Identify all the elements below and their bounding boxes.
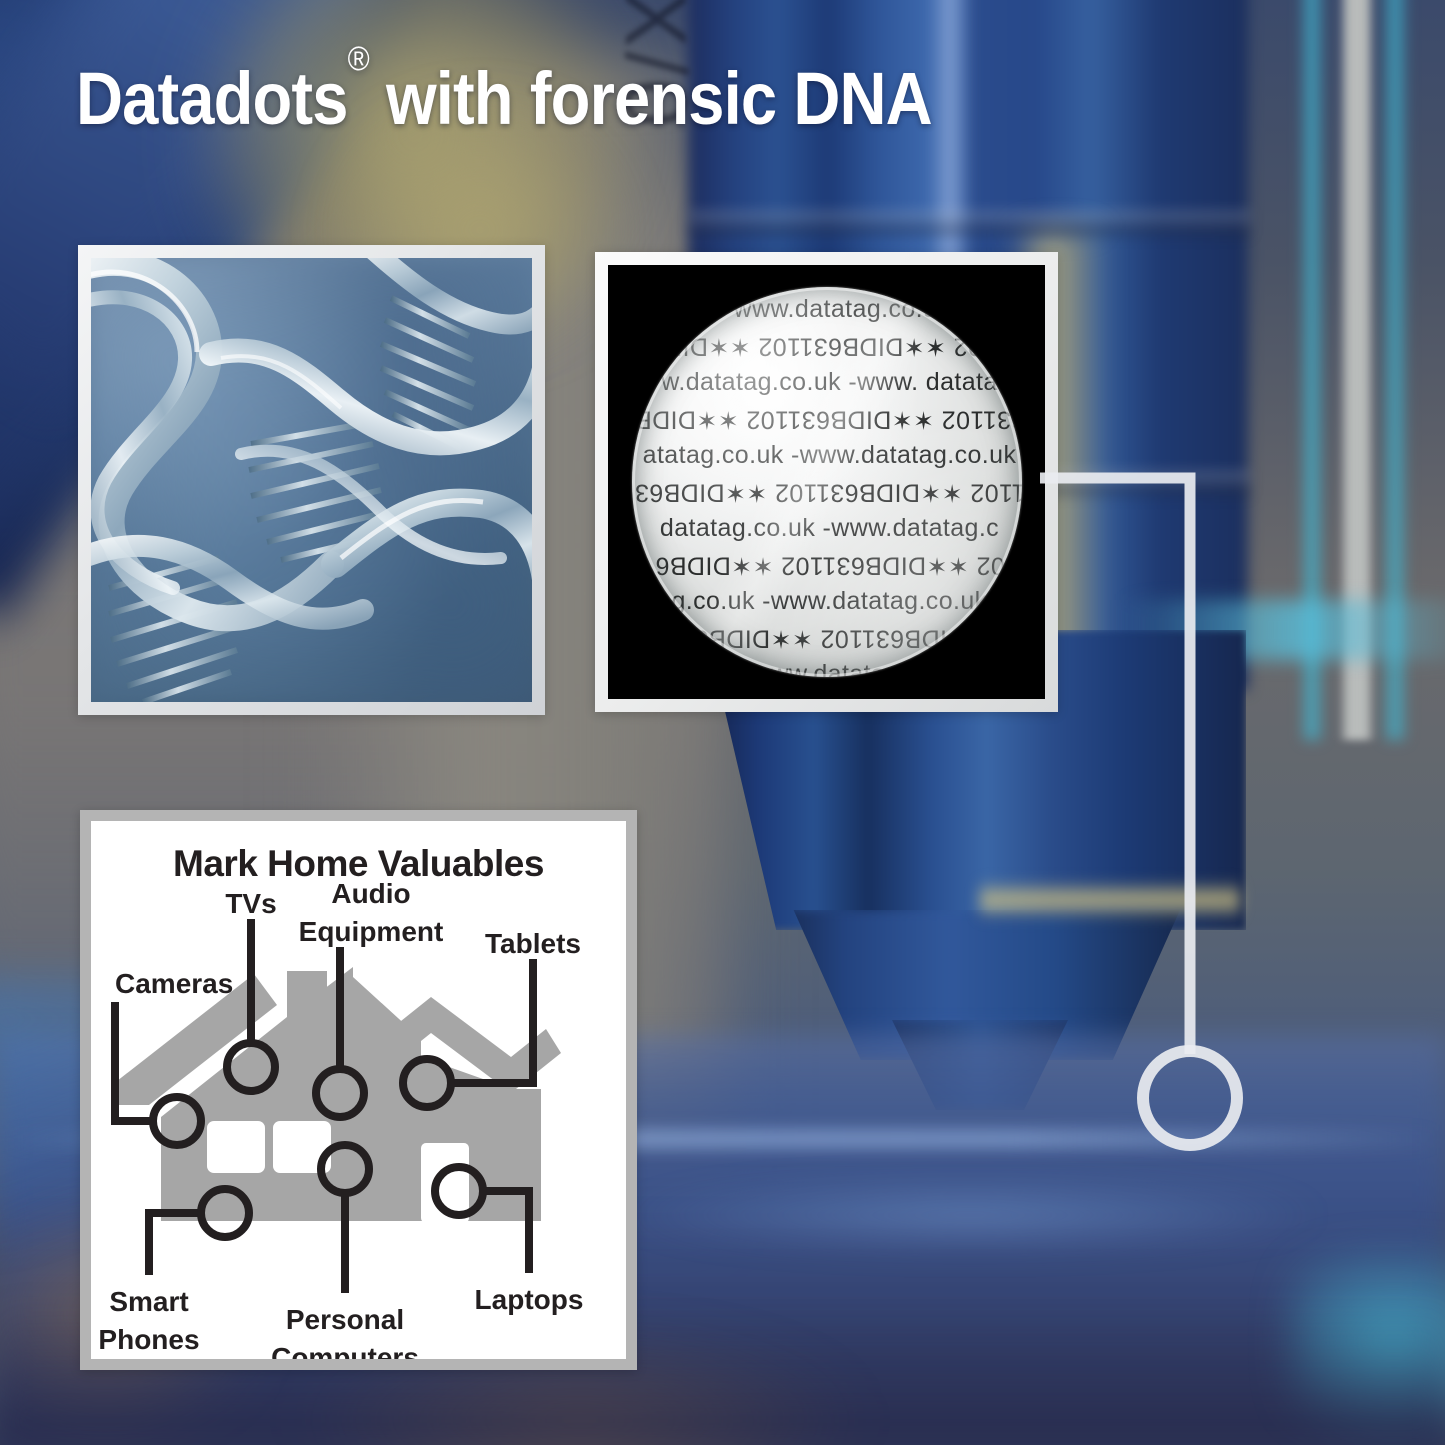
label-smart-phones-line1: Smart [109,1286,188,1317]
dna-helix-icon [91,258,532,702]
connector-line [1040,440,1260,1140]
datadot-microtext: · -www.datatag.co.uk102 ✶✶DIDB631102 ✶✶D… [632,291,1022,677]
label-tvs: TVs [225,888,276,919]
label-personal-computers-line2: Computers [271,1342,419,1359]
page-title-rest: with forensic DNA [369,57,932,140]
datadot-disc: · -www.datatag.co.uk102 ✶✶DIDB631102 ✶✶D… [632,287,1022,677]
mark-home-valuables-panel: Mark Home Valuables [80,810,637,1370]
page-title: Datadots® with forensic DNA [76,56,932,141]
datadot-photo: · -www.datatag.co.uk102 ✶✶DIDB631102 ✶✶D… [608,265,1045,699]
dna-helix-image [91,258,532,702]
poster-canvas: X/0 Datadots® with forensic DNA [0,0,1445,1445]
datadot-magnified-panel: · -www.datatag.co.uk102 ✶✶DIDB631102 ✶✶D… [595,252,1058,712]
label-tablets: Tablets [485,928,581,959]
magnified-spot-circle [1143,1051,1237,1145]
label-audio-line2: Equipment [299,916,444,947]
label-laptops: Laptops [475,1284,584,1315]
label-smart-phones-line2: Phones [98,1324,199,1355]
label-cameras: Cameras [115,968,233,999]
page-title-main: Datadots [76,57,348,140]
home-valuables-diagram: Cameras TVs Audio Equipment Tablets Smar… [91,821,626,1359]
dna-helix-panel [78,245,545,715]
label-audio-line1: Audio [331,878,410,909]
registered-trademark-icon: ® [348,40,369,78]
label-personal-computers-line1: Personal [286,1304,404,1335]
